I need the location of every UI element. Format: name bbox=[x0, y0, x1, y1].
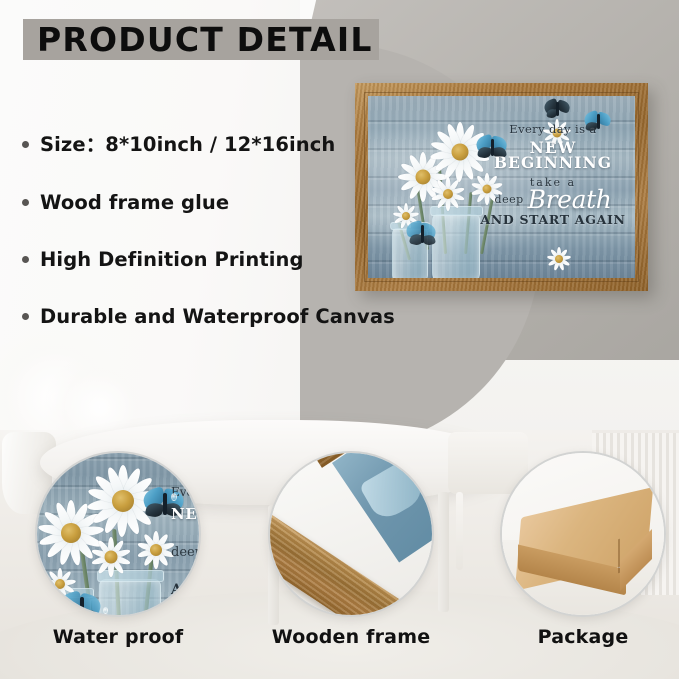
quote-line-1: Every day is a bbox=[478, 124, 628, 136]
feature-list: Size：8*10inch / 12*16inch Wood frame glu… bbox=[22, 128, 382, 362]
quote-line-4: deep bbox=[495, 194, 524, 205]
feature-label: Wood frame glue bbox=[40, 191, 229, 214]
feature-item-printing: High Definition Printing bbox=[22, 248, 382, 271]
thumbnail-package: Package bbox=[500, 451, 666, 648]
mason-jar-large bbox=[99, 579, 161, 617]
daisy-center bbox=[61, 523, 81, 543]
daisy-center bbox=[55, 579, 65, 589]
water-droplet bbox=[103, 607, 108, 614]
feature-label: Size：8*10inch / 12*16inch bbox=[40, 128, 335, 157]
feature-label: Durable and Waterproof Canvas bbox=[40, 305, 395, 328]
butterfly-dark bbox=[544, 100, 572, 120]
infographic-canvas: PRODUCT DETAIL Size：8*10inch / 12*16inch… bbox=[0, 0, 679, 679]
quote-line-6: AND START AGAIN bbox=[478, 214, 628, 227]
quote-line-2: NEW BEGINNING bbox=[478, 140, 628, 171]
thumbnail-image-water-proof: Ever NEW B deep AND ST bbox=[35, 451, 201, 617]
daisy-center bbox=[555, 255, 563, 263]
water-droplet bbox=[171, 493, 177, 501]
cropped-quote-text: Ever NEW B deep AND ST bbox=[171, 485, 201, 598]
butterfly-outline bbox=[406, 222, 440, 248]
butterfly-outline bbox=[59, 593, 105, 617]
thumbnail-label-wooden-frame: Wooden frame bbox=[268, 626, 434, 648]
daisy-center bbox=[402, 212, 410, 220]
thumbnail-label-water-proof: Water proof bbox=[35, 626, 201, 648]
bullet-icon bbox=[22, 313, 29, 320]
feature-item-glue: Wood frame glue bbox=[22, 191, 382, 214]
thumbnail-wooden-frame: Wooden frame bbox=[268, 451, 434, 648]
daisy-flower bbox=[87, 533, 135, 581]
thumbnail-image-package bbox=[500, 451, 666, 617]
feature-item-canvas: Durable and Waterproof Canvas bbox=[22, 305, 382, 328]
thumbnail-water-proof: Ever NEW B deep AND ST Water proof bbox=[35, 451, 201, 648]
framed-artwork: Every day is a NEW BEGINNING take a deep… bbox=[355, 83, 648, 291]
quote-row-breath: deep Breath bbox=[478, 189, 628, 212]
package-box-seam bbox=[618, 539, 620, 574]
page-title: PRODUCT DETAIL bbox=[23, 20, 373, 59]
feature-label: High Definition Printing bbox=[40, 248, 304, 271]
feature-item-size: Size：8*10inch / 12*16inch bbox=[22, 128, 382, 157]
daisy-center bbox=[105, 551, 118, 564]
artwork-quote: Every day is a NEW BEGINNING take a deep… bbox=[478, 124, 628, 227]
bullet-icon bbox=[22, 141, 29, 148]
daisy-center bbox=[452, 144, 469, 161]
daisy-flower bbox=[428, 174, 468, 214]
bullet-icon bbox=[22, 256, 29, 263]
thumbnail-label-package: Package bbox=[500, 626, 666, 648]
bullet-icon bbox=[22, 199, 29, 206]
canvas-print: Every day is a NEW BEGINNING take a deep… bbox=[368, 96, 635, 278]
daisy-center bbox=[443, 189, 453, 199]
zoomed-canvas-crop: Ever NEW B deep AND ST bbox=[35, 451, 201, 617]
daisy-center bbox=[112, 490, 134, 512]
quote-line-5: Breath bbox=[528, 189, 612, 212]
thumbnail-row: Ever NEW B deep AND ST Water proof bbox=[0, 449, 679, 679]
daisy-flower bbox=[544, 244, 574, 274]
daisy-center bbox=[150, 544, 162, 556]
thumbnail-image-wooden-frame bbox=[268, 451, 434, 617]
title-banner: PRODUCT DETAIL bbox=[23, 19, 379, 60]
